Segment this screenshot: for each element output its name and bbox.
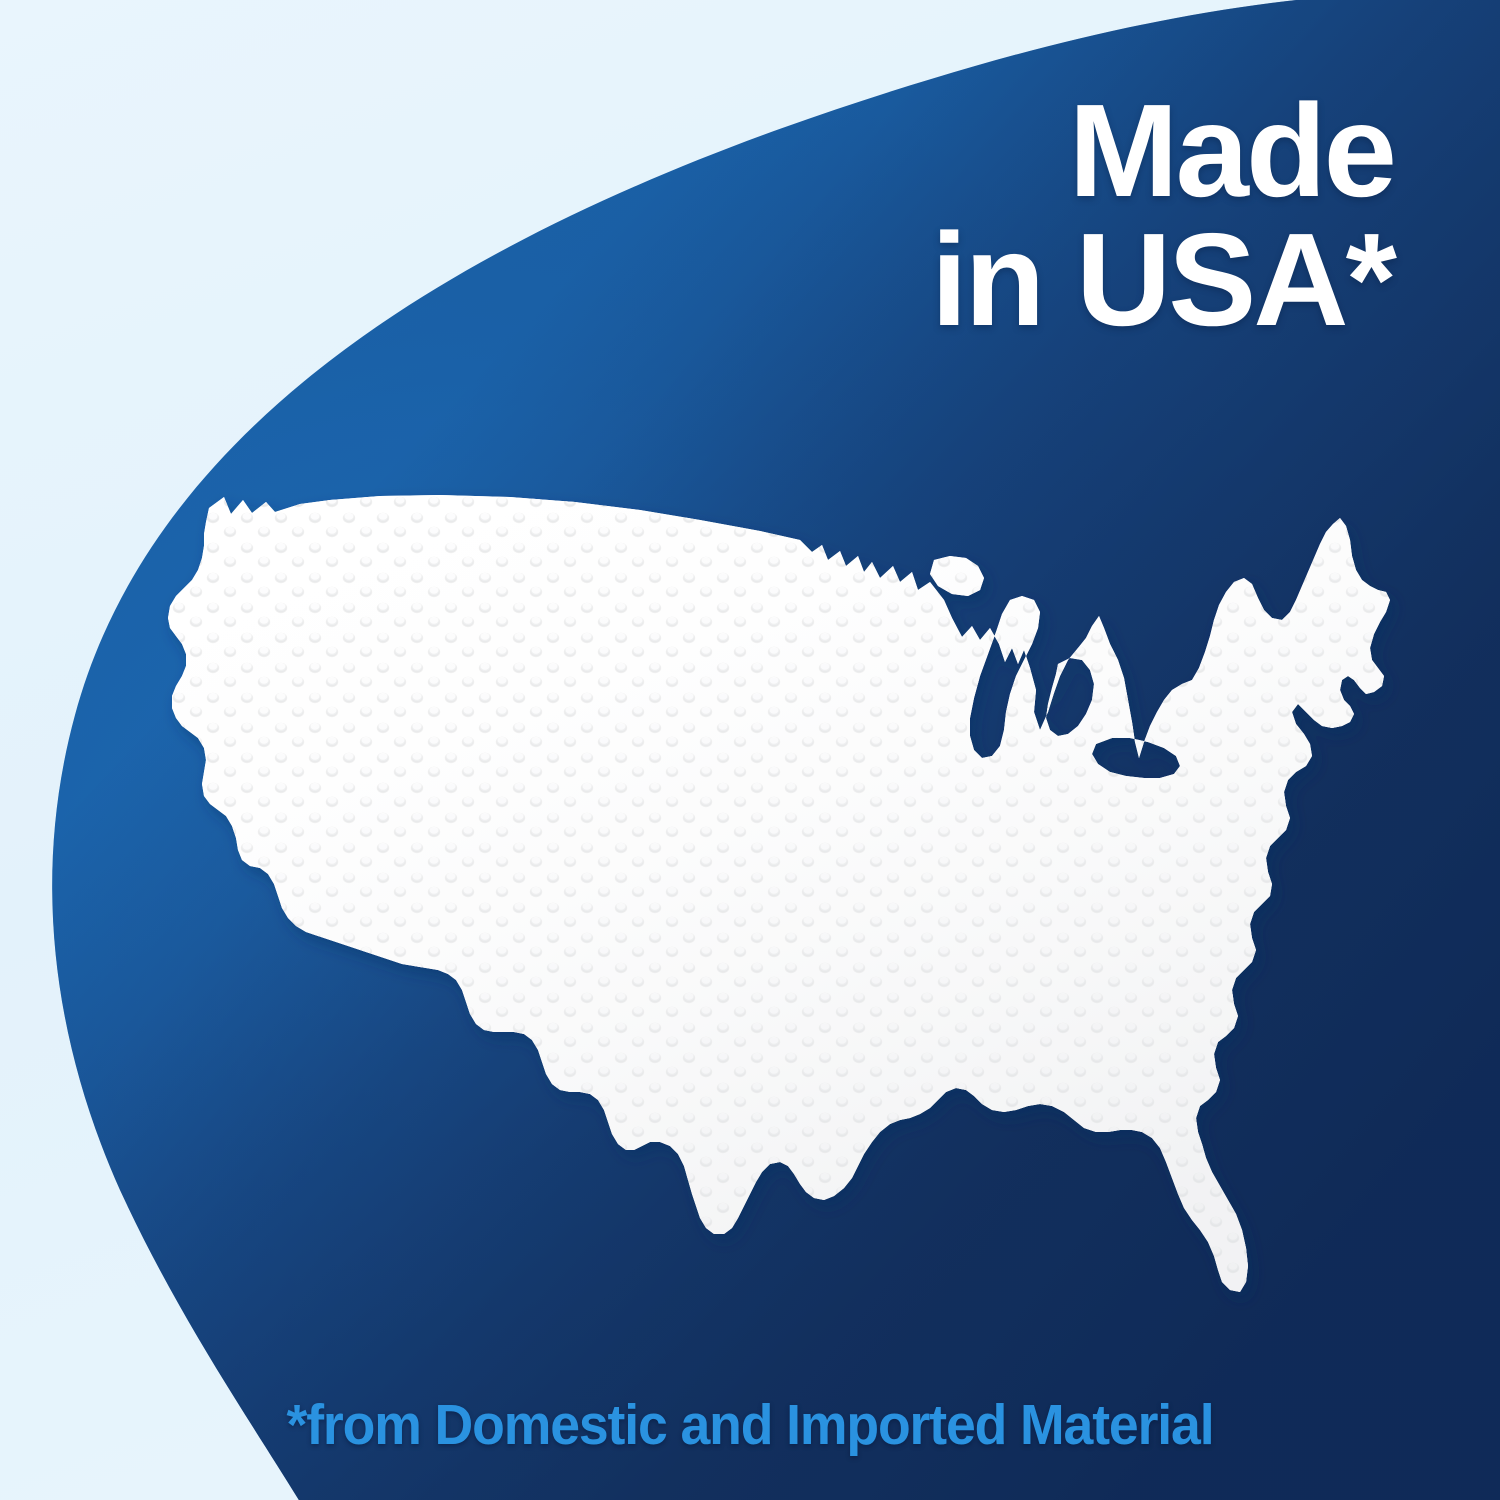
made-in-usa-badge: Made in USA* *from Domestic and Imported… <box>0 0 1500 1500</box>
headline-line-2: in USA* <box>931 215 1394 344</box>
headline-line-1: Made <box>931 86 1394 215</box>
footnote-text: *from Domestic and Imported Material <box>45 1392 1455 1458</box>
headline: Made in USA* <box>931 86 1394 345</box>
